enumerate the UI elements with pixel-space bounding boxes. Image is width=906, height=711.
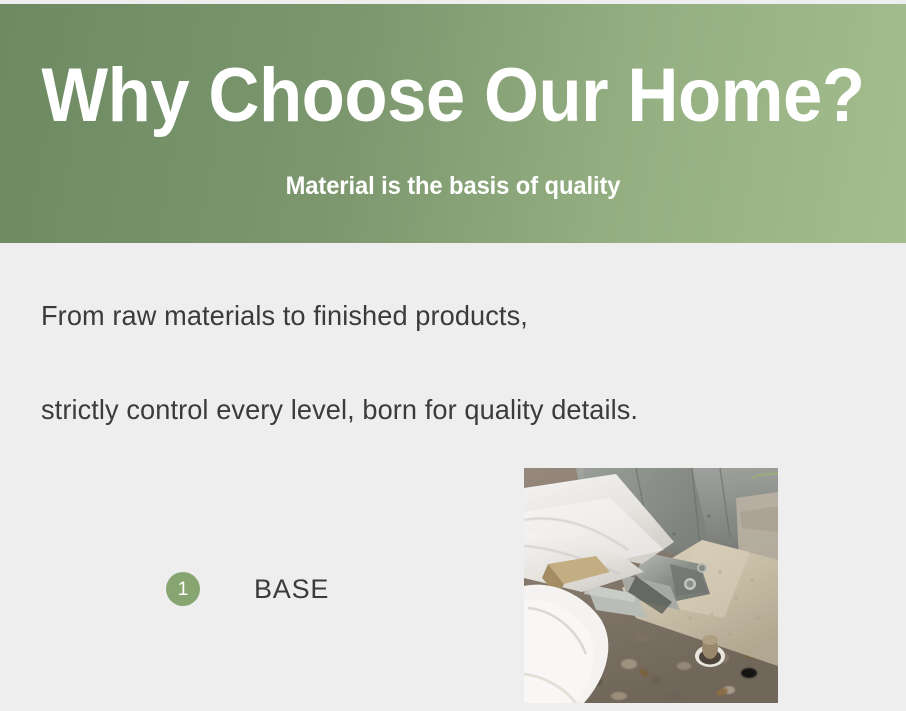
item-label-base: BASE — [254, 574, 329, 605]
slide-canvas: Why Choose Our Home? Material is the bas… — [0, 0, 906, 711]
list-item: 1 BASE — [166, 572, 329, 606]
page-title: Why Choose Our Home? — [32, 56, 875, 136]
base-detail-photo-graphic — [524, 468, 778, 703]
body-copy: From raw materials to finished products,… — [41, 300, 821, 426]
body-copy-line-1: From raw materials to finished products, — [41, 300, 798, 332]
body-copy-line-2: strictly control every level, born for q… — [41, 394, 798, 426]
header-banner: Why Choose Our Home? Material is the bas… — [0, 4, 906, 243]
page-subtitle: Material is the basis of quality — [23, 172, 884, 201]
item-number-badge: 1 — [166, 572, 200, 606]
base-detail-photo — [524, 468, 778, 703]
